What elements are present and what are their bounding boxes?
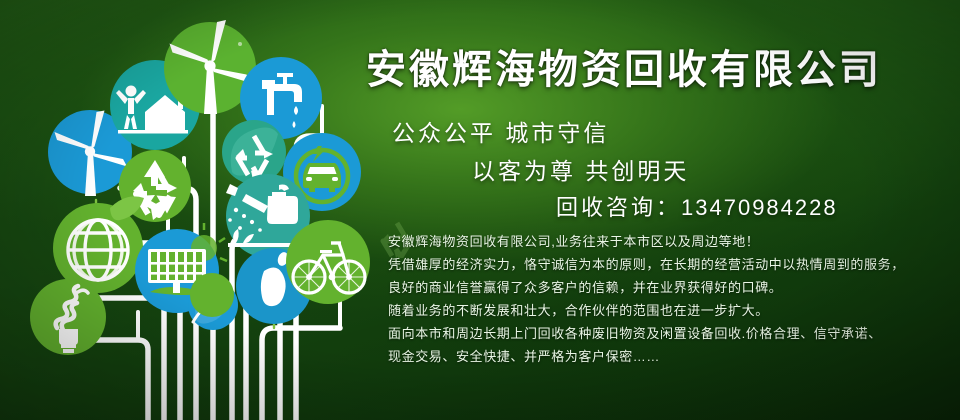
description-line: 现金交易、安全快捷、并严格为客户保密…… <box>388 345 946 368</box>
company-title: 安徽辉海物资回收有限公司 <box>366 46 926 94</box>
globe-icon <box>53 196 144 293</box>
description-line: 面向本市和周边长期上门回收各种废旧物资及闲置设备回收.价格合理、信守承诺、 <box>388 322 946 345</box>
slogan-line-1: 公众公平 城市守信 <box>392 114 609 148</box>
description-line: 安徽辉海物资回收有限公司,业务往来于本市区以及周边等地！ <box>388 230 946 253</box>
eco-recycling-banner: 安徽辉海物资回收有限公司 公众公平 城市守信 以客为尊 共创明天 回收咨询：13… <box>0 0 960 420</box>
company-description: 安徽辉海物资回收有限公司,业务往来于本市区以及周边等地！ 凭借雄厚的经济实力，恪… <box>388 230 946 368</box>
description-line: 凭借雄厚的经济实力，恪守诚信为本的原则，在长期的经营活动中以热情周到的服务， <box>388 253 946 276</box>
phone-number: 13470984228 <box>681 195 838 220</box>
contact-line: 回收咨询：13470984228 <box>556 190 838 222</box>
leaf-bud-icon <box>190 273 234 317</box>
description-line: 随着业务的不断发展和壮大，合作伙伴的范围也在进一步扩大。 <box>388 299 946 322</box>
banner-text-column: 安徽辉海物资回收有限公司 公众公平 城市守信 以客为尊 共创明天 回收咨询：13… <box>360 0 960 420</box>
contact-label: 回收咨询： <box>556 195 681 220</box>
recycle-leaf-icon <box>222 120 286 184</box>
slogan-line-2: 以客为尊 共创明天 <box>472 152 689 186</box>
light-bulb-icon <box>30 279 106 355</box>
eco-tree-illustration <box>0 0 400 420</box>
bicycle-icon <box>286 220 370 304</box>
description-line: 良好的商业信誉赢得了众多客户的信赖，并在业界获得好的口碑。 <box>388 276 946 299</box>
